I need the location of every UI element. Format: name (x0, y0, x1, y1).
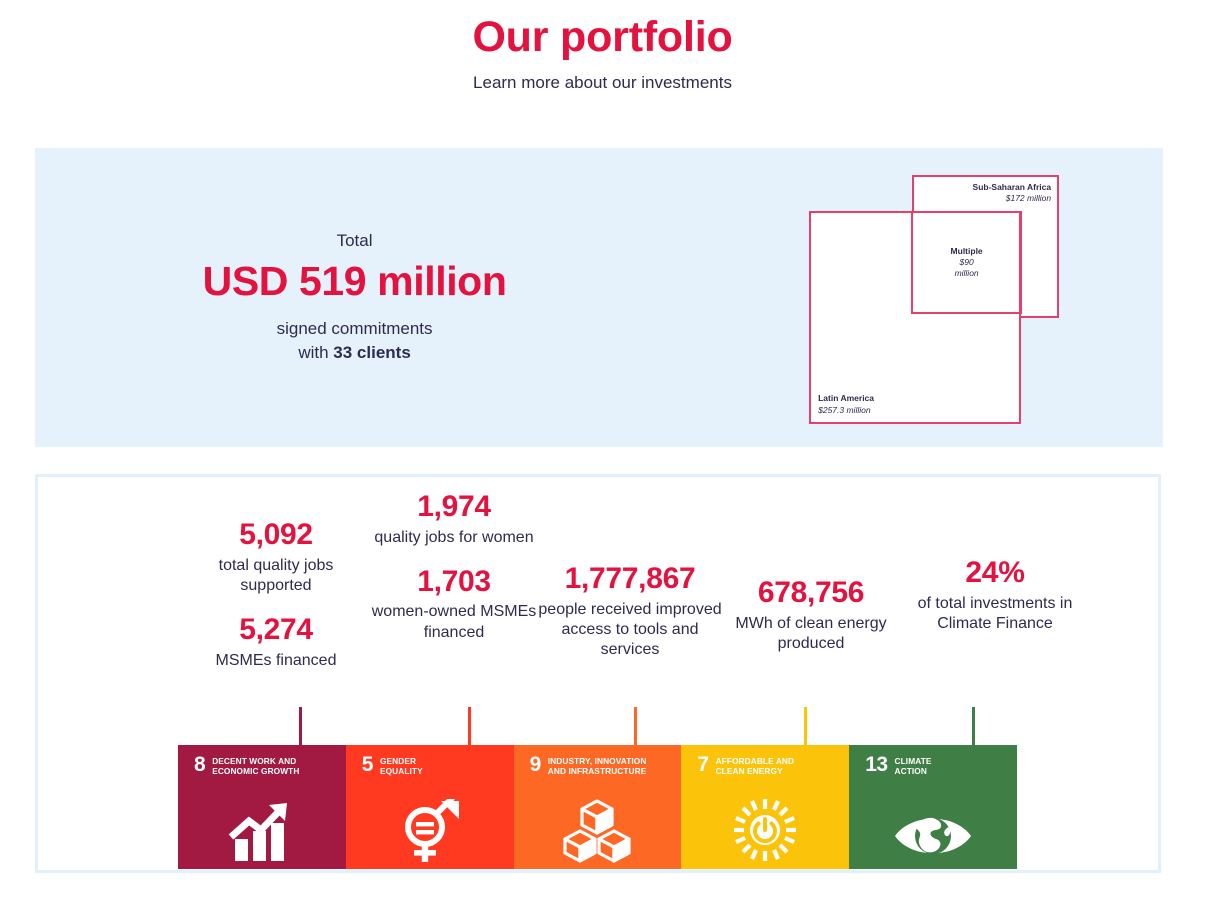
impact-stat-column-3: 1,777,867people received improved access… (537, 561, 723, 660)
sdg-tiles-row: 8Decent work and economic growth5Gender … (178, 745, 1017, 869)
impact-stat-column-4: 678,756MWh of clean energy produced (723, 575, 899, 654)
impact-stats-row: 5,092total quality jobs supported5,274MS… (181, 497, 1091, 727)
sdg-number: 13 (865, 755, 887, 775)
impact-stat-label: people received improved access to tools… (537, 600, 723, 660)
sdg-connector-1 (299, 707, 302, 749)
sdg-number: 7 (697, 755, 708, 775)
sdg-goal-name: Gender equality (380, 756, 423, 776)
impact-stat-label: quality jobs for women (371, 528, 537, 548)
region-text-latin-america: Latin America $257.3 million (818, 393, 874, 416)
sdg-tile-header: 5Gender equality (346, 745, 514, 776)
sdg-tile-header: 8Decent work and economic growth (178, 745, 346, 776)
sdg-tile-7[interactable]: 7Affordable and clean energy (681, 745, 849, 869)
sdg-number: 9 (530, 755, 541, 775)
impact-stat: 5,092total quality jobs supported (181, 517, 371, 596)
impact-stat-column-2: 1,974quality jobs for women1,703women-ow… (371, 489, 537, 643)
impact-stat: 5,274MSMEs financed (181, 612, 371, 671)
sdg-number: 5 (362, 755, 373, 775)
sdg-connector-2 (468, 707, 471, 749)
sdg-connector-4 (804, 707, 807, 749)
region-text-multiple: Multiple $90 million (913, 245, 1020, 279)
impact-stat: 1,703women-owned MSMEs financed (371, 564, 537, 643)
sdg-tile-8[interactable]: 8Decent work and economic growth (178, 745, 346, 869)
sdg-connector-5 (972, 707, 975, 749)
total-label: Total (65, 230, 644, 252)
clients-prefix: with (298, 343, 333, 362)
sdg-tile-header: 7Affordable and clean energy (681, 745, 849, 776)
page-title: Our portfolio (0, 14, 1205, 61)
impact-stat-number: 678,756 (723, 575, 899, 612)
region-value-multiple-line1: $90 (913, 257, 1020, 268)
commitments-card: Total USD 519 million signed commitments… (35, 148, 1163, 447)
region-value-latin-america: $257.3 million (818, 405, 874, 416)
impact-stat: 678,756MWh of clean energy produced (723, 575, 899, 654)
total-amount: USD 519 million (65, 254, 644, 309)
impact-stat-column-1: 5,092total quality jobs supported5,274MS… (181, 517, 371, 671)
sdg-tile-5[interactable]: 5Gender equality (346, 745, 514, 869)
page-subtitle: Learn more about our investments (0, 73, 1205, 93)
sdg-goal-name: Affordable and clean energy (716, 756, 795, 776)
impact-stat-label: MWh of clean energy produced (723, 614, 899, 654)
impact-stat: 1,777,867people received improved access… (537, 561, 723, 660)
sdg-connector-3 (634, 707, 637, 749)
impact-stat-number: 1,974 (371, 489, 537, 526)
impact-stat-label: women-owned MSMEs financed (371, 602, 537, 642)
impact-stat-label: MSMEs financed (181, 651, 371, 671)
sdg-goal-name: Climate action (895, 756, 932, 776)
impact-stat-number: 1,703 (371, 564, 537, 601)
commitments-summary: Total USD 519 million signed commitments… (35, 230, 644, 366)
gender-equality-icon (346, 797, 514, 863)
impact-stat-label: total quality jobs supported (181, 556, 371, 596)
region-label-sub-saharan-africa: Sub-Saharan Africa (973, 182, 1052, 193)
cubes-icon (514, 797, 682, 863)
sun-power-icon (681, 797, 849, 863)
impact-stat: 1,974quality jobs for women (371, 489, 537, 548)
commitments-subtext: signed commitments with 33 clients (65, 317, 644, 365)
sdg-number: 8 (194, 755, 205, 775)
sdg-connectors (181, 707, 1091, 749)
growth-chart-icon (178, 797, 346, 863)
sdg-tile-9[interactable]: 9Industry, innovation and infrastructure (514, 745, 682, 869)
sdg-tile-header: 9Industry, innovation and infrastructure (514, 745, 682, 776)
impact-stat-label: of total investments in Climate Finance (899, 594, 1091, 634)
region-value-multiple-line2: million (913, 268, 1020, 279)
clients-line: with 33 clients (65, 341, 644, 365)
region-box-multiple[interactable]: Multiple $90 million (911, 211, 1022, 314)
region-text-sub-saharan-africa: Sub-Saharan Africa $172 million (973, 182, 1052, 205)
region-label-latin-america: Latin America (818, 393, 874, 404)
impact-stat-number: 5,274 (181, 612, 371, 649)
clients-count: 33 clients (333, 343, 411, 362)
sdg-tile-13[interactable]: 13Climate action (849, 745, 1017, 869)
sdg-goal-name: Industry, innovation and infrastructure (548, 756, 647, 776)
regions-diagram: Sub-Saharan Africa $172 million Latin Am… (644, 148, 1163, 447)
impact-stat-number: 5,092 (181, 517, 371, 554)
region-label-multiple: Multiple (913, 245, 1020, 256)
sdg-tile-header: 13Climate action (849, 745, 1017, 776)
impact-stat: 24%of total investments in Climate Finan… (899, 555, 1091, 634)
page-header: Our portfolio Learn more about our inves… (0, 0, 1205, 94)
impact-card: 5,092total quality jobs supported5,274MS… (35, 474, 1161, 873)
impact-stat-number: 24% (899, 555, 1091, 592)
region-value-sub-saharan-africa: $172 million (973, 193, 1052, 204)
impact-stat-number: 1,777,867 (537, 561, 723, 598)
signed-commitments-label: signed commitments (65, 317, 644, 341)
impact-stat-column-5: 24%of total investments in Climate Finan… (899, 555, 1091, 634)
sdg-goal-name: Decent work and economic growth (212, 756, 299, 776)
eye-globe-icon (849, 797, 1017, 863)
